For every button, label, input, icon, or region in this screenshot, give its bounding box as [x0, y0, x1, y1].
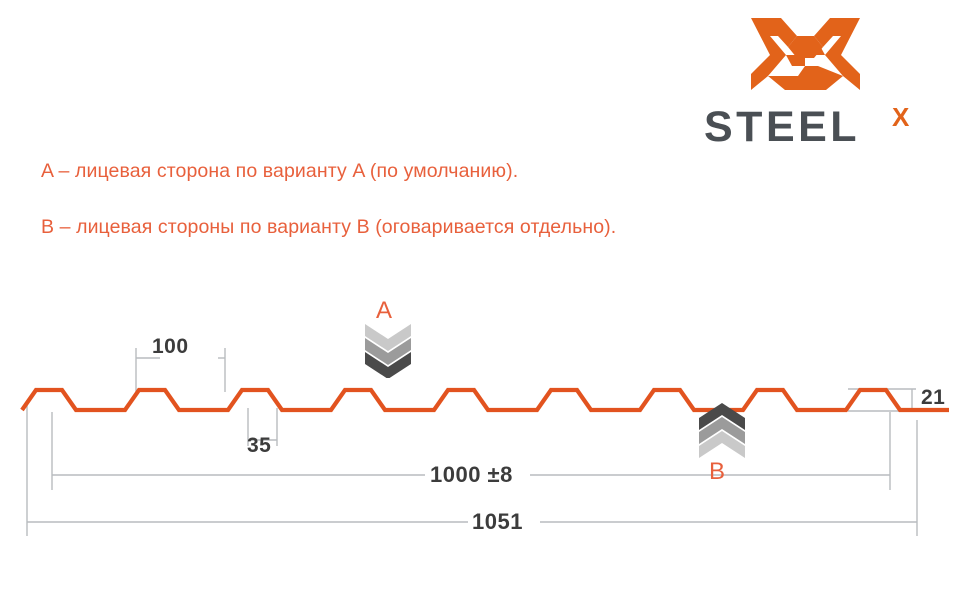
profile-technical-drawing: [0, 0, 970, 593]
marker-b-label: B: [709, 458, 725, 486]
dimension-label-working-width: 1000 ±8: [430, 462, 513, 488]
dimension-label-height: 21: [921, 386, 945, 410]
corrugated-profile-outline: [22, 390, 949, 410]
chevron-up-triple-icon: [697, 402, 747, 458]
chevron-down-triple-icon: [363, 322, 413, 378]
marker-a-label: A: [376, 297, 392, 325]
drawing-page: STEEL X A – лицевая сторона по варианту …: [0, 0, 970, 593]
dimension-lines: [27, 348, 917, 536]
dimension-label-pitch: 100: [152, 335, 189, 359]
dimension-label-valley-width: 35: [247, 434, 271, 458]
dimension-label-total-width: 1051: [472, 509, 523, 535]
